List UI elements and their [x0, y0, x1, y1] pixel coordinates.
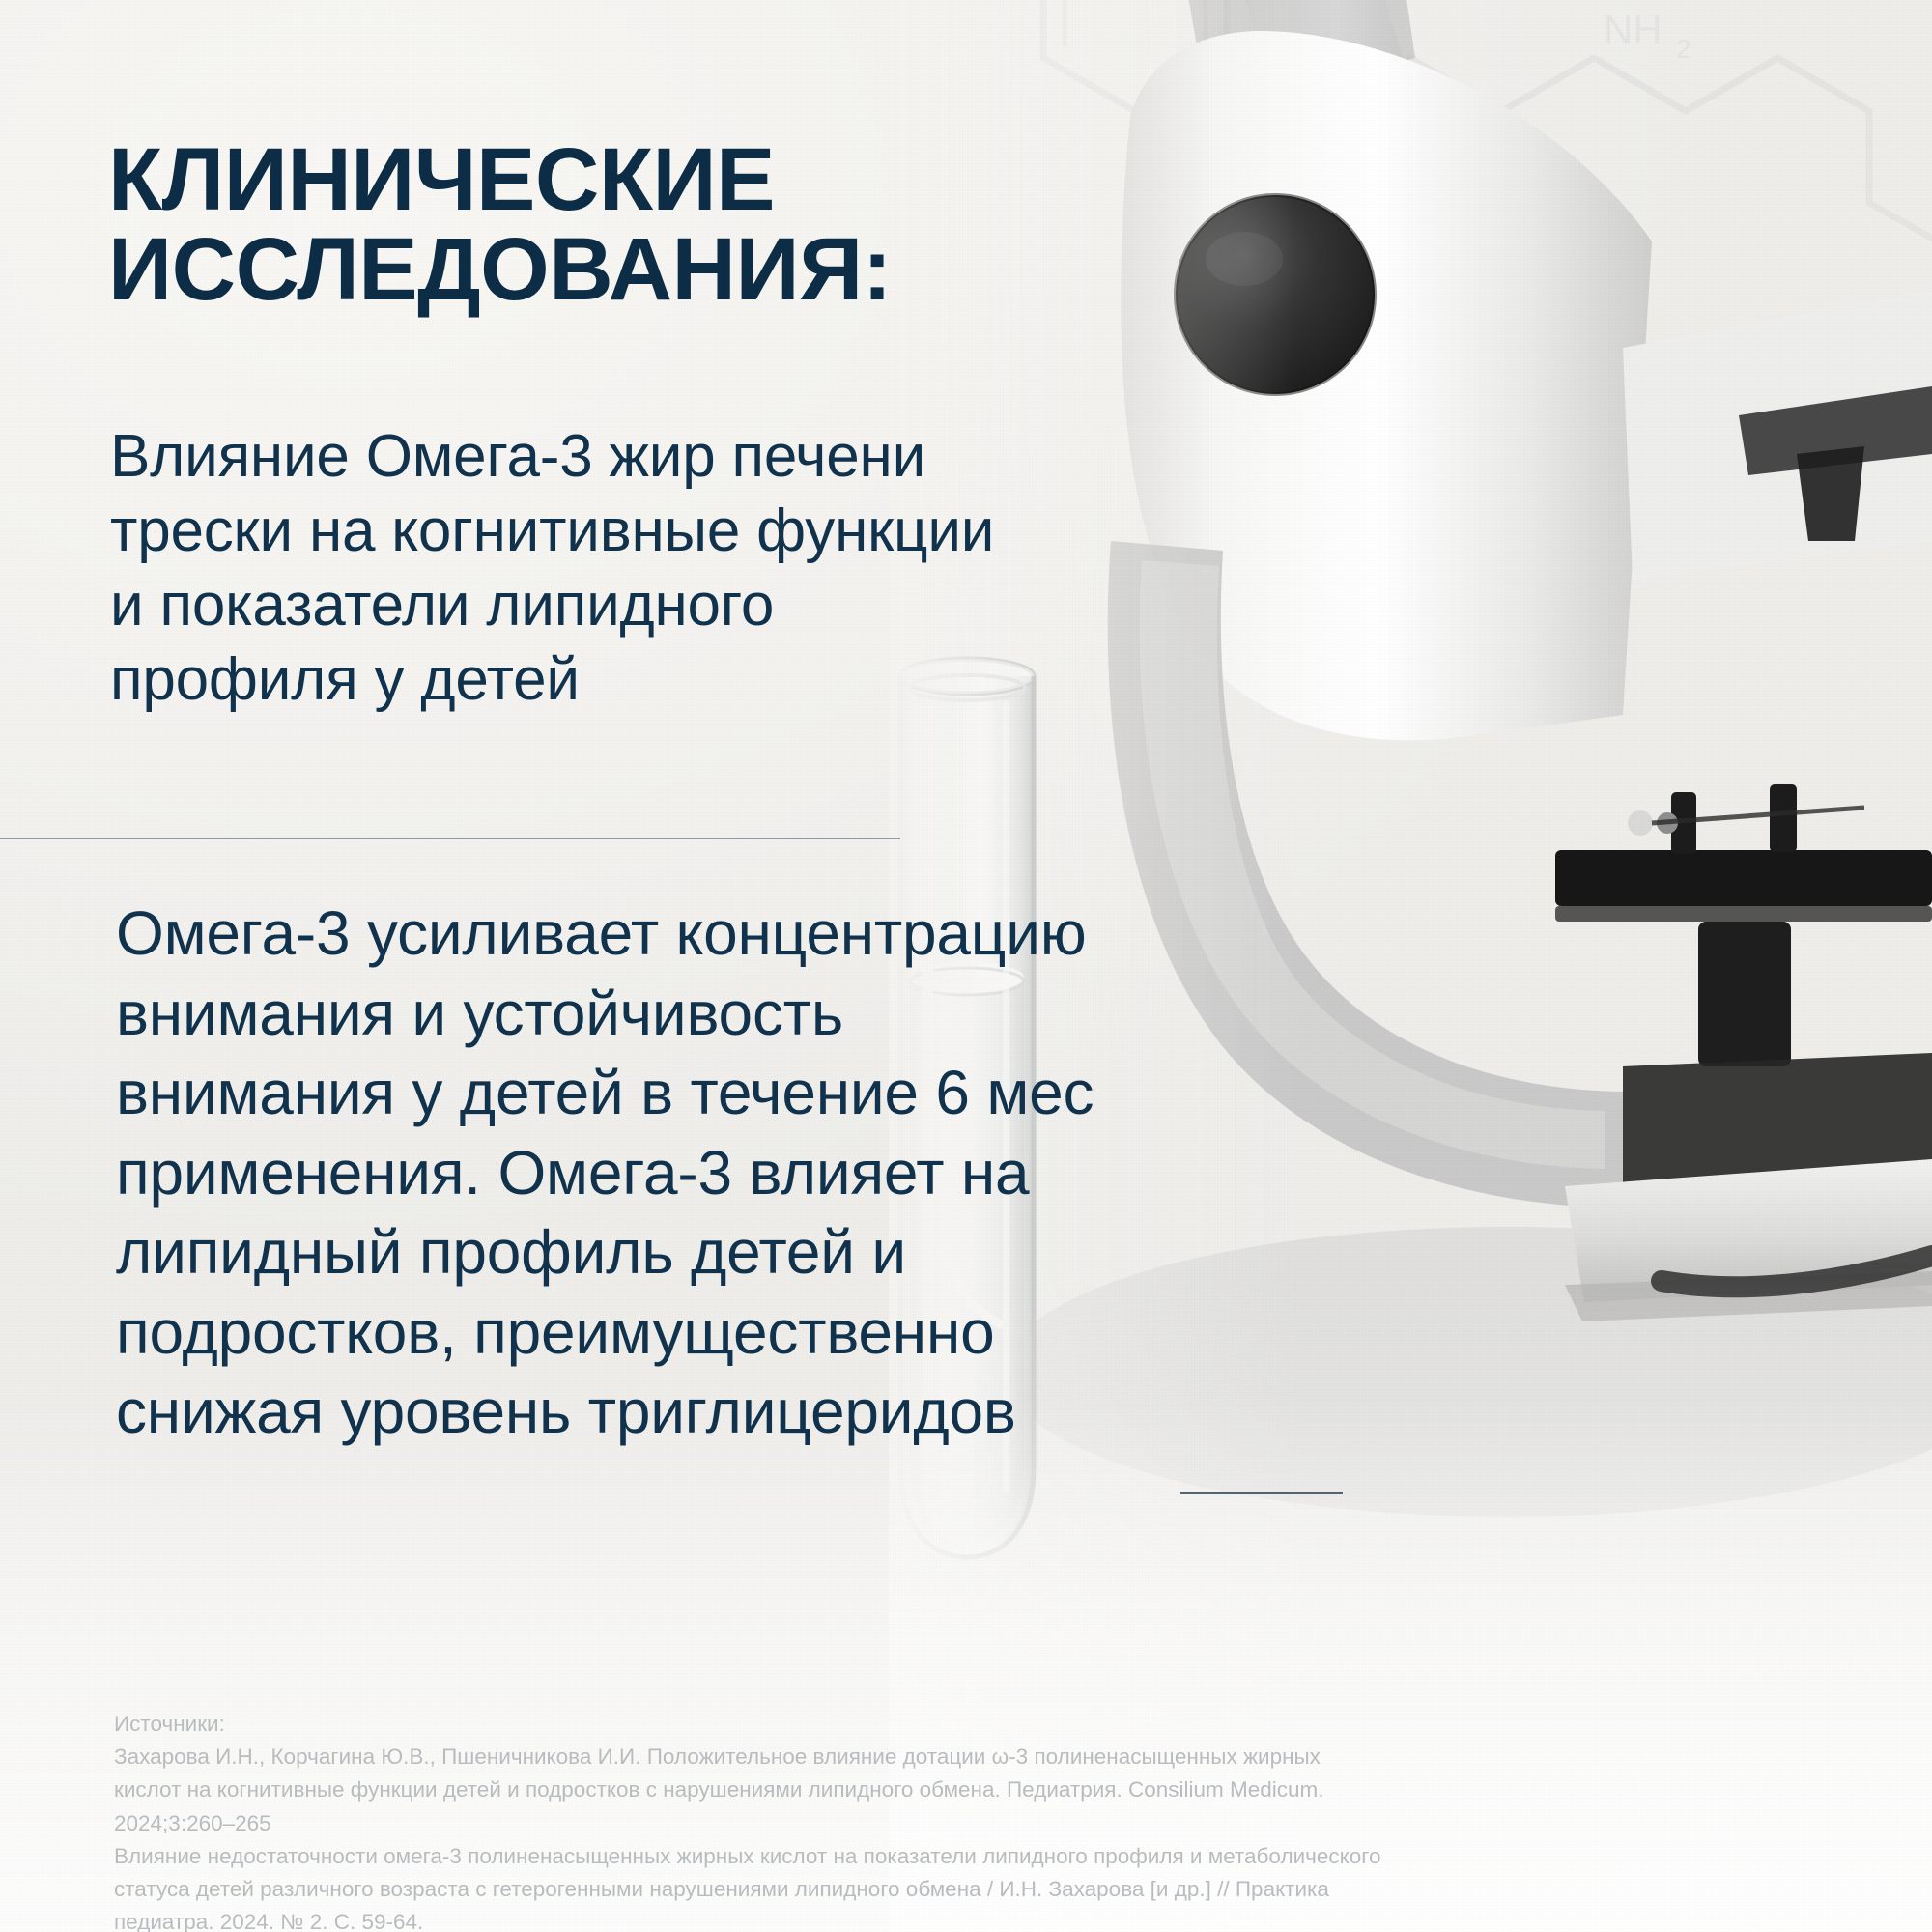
section-divider: [0, 838, 900, 839]
source-item-2: Влияние недостаточности омега-3 полинена…: [114, 1840, 1389, 1932]
sources-block: Источники: Захарова И.Н., Корчагина Ю.В.…: [114, 1708, 1389, 1932]
accent-rule: [1180, 1492, 1343, 1494]
sources-label: Источники:: [114, 1708, 1389, 1741]
source-item-1: Захарова И.Н., Корчагина Ю.В., Пшеничник…: [114, 1741, 1389, 1840]
page-title: КЛИНИЧЕСКИЕ ИССЛЕДОВАНИЯ:: [108, 135, 1151, 317]
study-title-text: Влияние Омега-3 жир печени трески на ког…: [110, 420, 1134, 718]
findings-text: Омега-3 усиливает концентрацию внимания …: [116, 894, 1285, 1452]
clinical-research-infographic-card: NH 2: [0, 0, 1932, 1932]
